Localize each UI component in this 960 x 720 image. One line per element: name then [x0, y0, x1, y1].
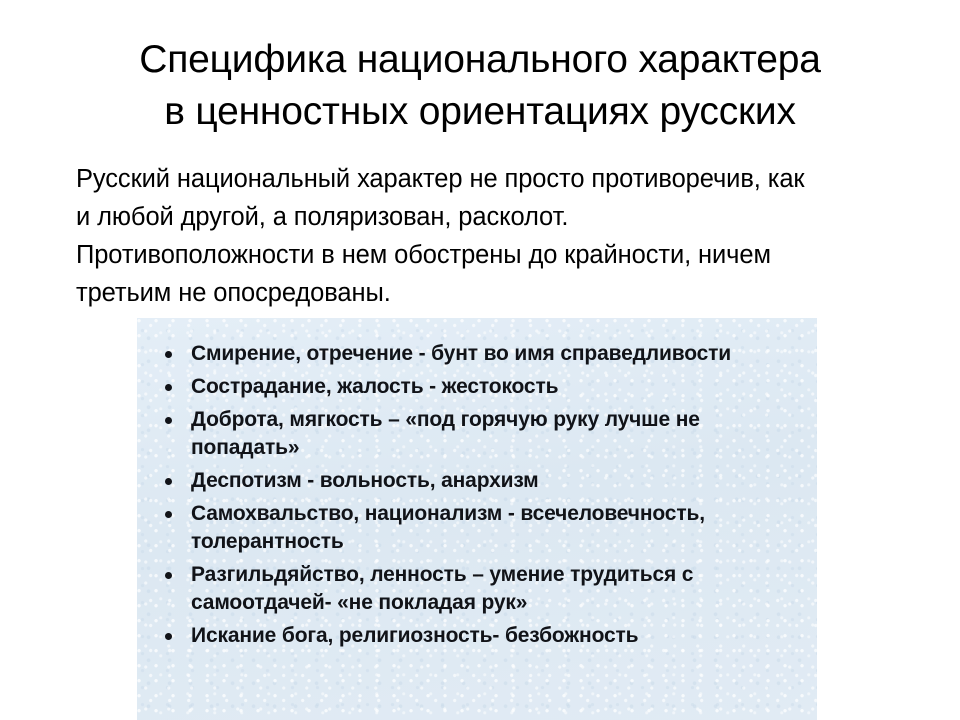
- bullet-point-icon: [165, 384, 172, 391]
- page-title: Специфика национального характера в ценн…: [0, 34, 960, 138]
- bullet-point-icon: [165, 478, 172, 485]
- intro-line-2: и любой другой, а поляризован, расколот.: [76, 198, 952, 236]
- list-item-label: Самохвальство, национализм - всечеловечн…: [191, 500, 807, 556]
- bullet-point-icon: [165, 572, 172, 579]
- list-item: Самохвальство, национализм - всечеловечн…: [155, 500, 807, 556]
- list-item: Искание бога, религиозность- безбожность: [155, 622, 807, 650]
- bullet-list: Смирение, отречение - бунт во имя справе…: [155, 340, 807, 650]
- list-item-label: Искание бога, религиозность- безбожность: [191, 622, 807, 650]
- bullet-point-icon: [165, 511, 172, 518]
- title-line-2: в ценностных ориентациях русских: [0, 86, 960, 138]
- list-item: Смирение, отречение - бунт во имя справе…: [155, 340, 807, 368]
- bullet-point-icon: [165, 633, 172, 640]
- intro-line-1: Русский национальный характер не просто …: [76, 160, 952, 198]
- list-item: Сострадание, жалость - жестокость: [155, 373, 807, 401]
- list-item-label: Доброта, мягкость – «под горячую руку лу…: [191, 406, 807, 462]
- bullet-point-icon: [165, 417, 172, 424]
- intro-line-3: Противоположности в нем обострены до кра…: [76, 236, 952, 274]
- list-item-label: Деспотизм - вольность, анархизм: [191, 467, 807, 495]
- list-item-label: Разгильдяйство, ленность – умение трудит…: [191, 561, 807, 617]
- list-item-label: Смирение, отречение - бунт во имя справе…: [191, 340, 807, 368]
- slide-canvas: Специфика национального характера в ценн…: [0, 0, 960, 720]
- list-item: Разгильдяйство, ленность – умение трудит…: [155, 561, 807, 617]
- intro-line-4: третьим не опосредованы.: [76, 274, 952, 312]
- intro-paragraph: Русский национальный характер не просто …: [76, 160, 952, 312]
- title-line-1: Специфика национального характера: [0, 34, 960, 86]
- content-box: Смирение, отречение - бунт во имя справе…: [137, 318, 817, 720]
- list-item-label: Сострадание, жалость - жестокость: [191, 373, 807, 401]
- list-item: Деспотизм - вольность, анархизм: [155, 467, 807, 495]
- bullet-point-icon: [165, 351, 172, 358]
- list-item: Доброта, мягкость – «под горячую руку лу…: [155, 406, 807, 462]
